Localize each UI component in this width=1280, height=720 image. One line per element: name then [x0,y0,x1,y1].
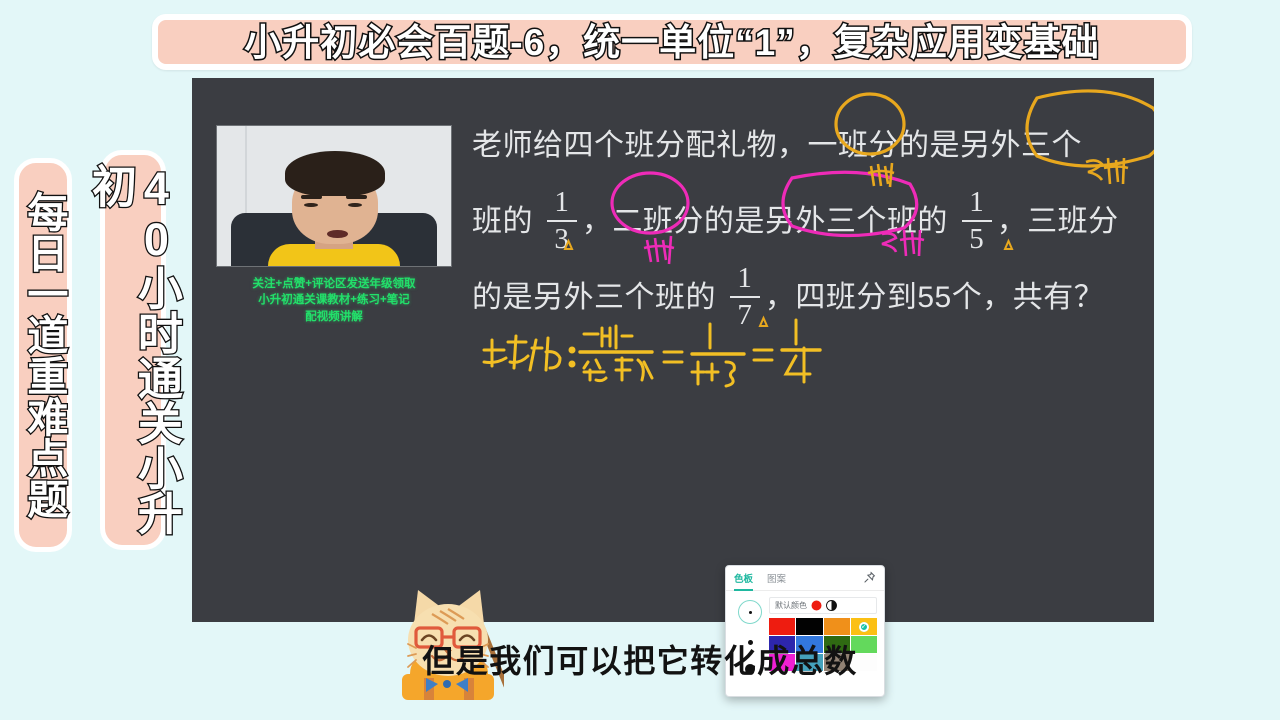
handwriting-transform-label [484,336,574,370]
eye-left [304,203,318,207]
default-red-dot-icon[interactable] [811,600,822,611]
default-color-label: 默认颜色 [775,600,807,611]
eyebrow-right [346,195,367,199]
video-title-banner: 小升初必会百题-6，统一单位“1”，复杂应用变基础 [152,14,1192,70]
promo-line-2: 小升初通关课教材+练习+笔记 [216,292,452,308]
handwriting-equals-2 [754,350,772,360]
eyebrow-left [301,195,322,199]
problem-statement: 老师给四个班分配礼物，一班分的是另外三个 班的 1 3 ，二班分的是另外三个班的… [472,108,1142,336]
promo-line-1: 关注+点赞+评论区发送年级领取 [216,276,452,292]
problem-segment-1: 老师给四个班分配礼物，一班分的是另外三个 [472,129,1082,162]
problem-segment-6: ，四班分到55个，共有？ [765,281,1104,314]
half-circle-icon[interactable] [826,600,837,611]
swatch-red[interactable] [769,618,795,635]
forty-hour-course-badge: 40小时通关小升初 [100,150,166,550]
pin-icon[interactable] [863,571,876,584]
handwriting-equals-1 [664,352,682,362]
swatch-orange[interactable] [824,618,850,635]
page-title: 小升初必会百题-6，统一单位“1”，复杂应用变基础 [244,24,1099,61]
fraction-numerator: 1 [969,188,984,217]
teacher-webcam-feed[interactable] [216,125,452,267]
fraction-bar [547,220,577,222]
problem-segment-2: 班的 [472,205,533,238]
default-color-row[interactable]: 默认颜色 [769,597,877,614]
promo-line-3: 配视频讲解 [216,309,452,325]
fraction-one-fifth: 1 5 [962,188,992,254]
daily-problem-badge-label: 每日一道重难点题 [22,191,64,519]
promo-text: 关注+点赞+评论区发送年级领取 小升初通关课教材+练习+笔记 配视频讲解 [216,276,452,325]
tab-pattern[interactable]: 图案 [767,566,786,591]
mouth-shape [327,230,348,238]
fraction-denominator: 5 [969,225,984,254]
problem-segment-3: ，二班分的是另外三个班的 [582,205,948,238]
brush-size-small[interactable] [738,600,762,624]
fraction-numerator: 1 [737,264,752,293]
daily-problem-badge: 每日一道重难点题 [14,158,72,552]
blackboard: 关注+点赞+评论区发送年级领取 小升初通关课教材+练习+笔记 配视频讲解 老师给… [192,78,1154,622]
fraction-bar [730,296,760,298]
fraction-numerator: 1 [554,188,569,217]
brush-dot-small [749,611,752,614]
fraction-one-third: 1 3 [547,188,577,254]
check-icon: ✓ [861,623,867,630]
swatch-gold[interactable]: ✓ [851,618,877,635]
problem-segment-5: 的是另外三个班的 [472,281,716,314]
screen: 小升初必会百题-6，统一单位“1”，复杂应用变基础 每日一道重难点题 40小时通… [0,0,1280,720]
hair-shape [285,151,386,196]
forty-hour-course-badge-label: 40小时通关小升初 [87,163,179,537]
fraction-denominator: 7 [737,301,752,330]
fraction-denominator: 3 [554,225,569,254]
tab-color-board[interactable]: 色板 [734,566,753,591]
swatch-black[interactable] [796,618,822,635]
fraction-bar [962,220,992,222]
video-subtitle: 但是我们可以把它转化成总数 [0,636,1280,682]
problem-segment-4: ，三班分 [997,205,1119,238]
fraction-one-seventh: 1 7 [730,264,760,330]
palette-tabs: 色板 图案 [726,566,884,591]
